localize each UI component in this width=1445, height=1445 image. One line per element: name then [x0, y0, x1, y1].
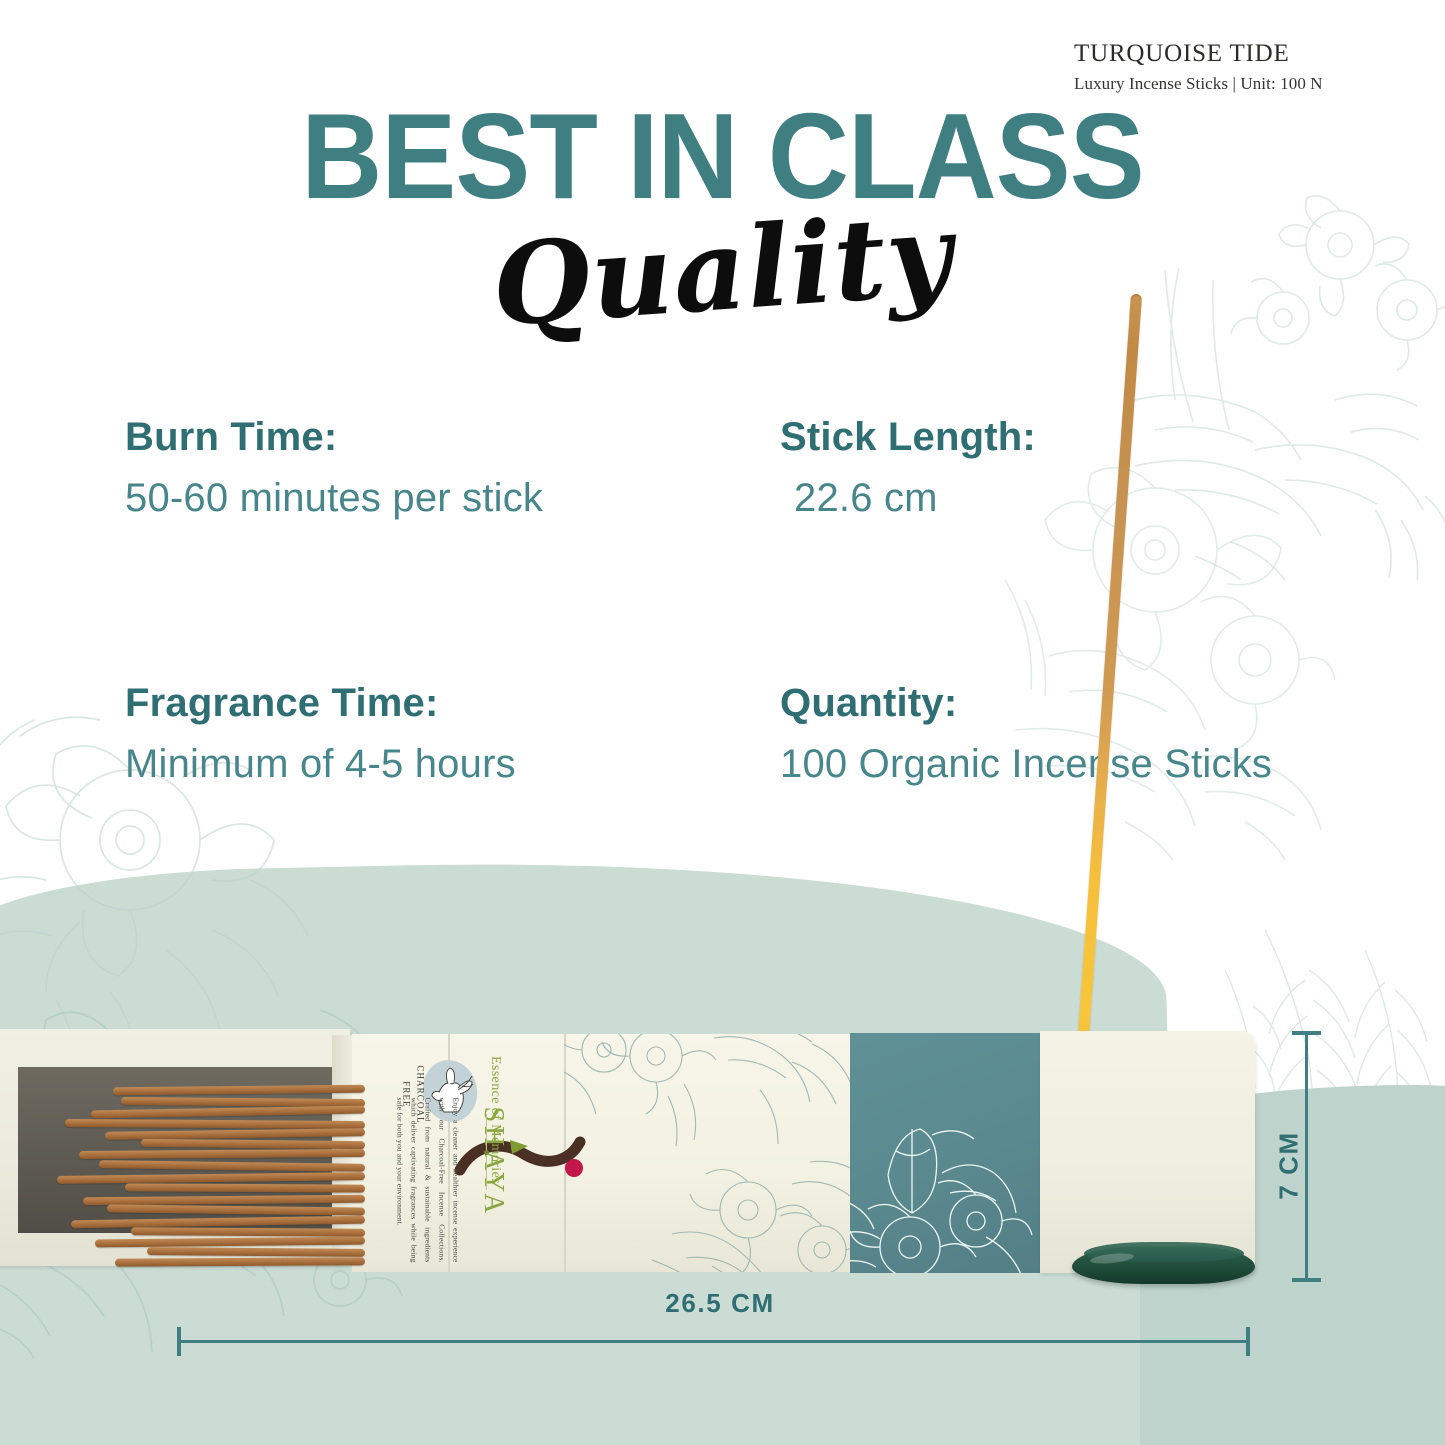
spec-stick-length: Stick Length: 22.6 cm — [780, 415, 1355, 521]
incense-holder — [1072, 1240, 1255, 1288]
spec-quantity: Quantity: 100 Organic Incense Sticks — [780, 681, 1355, 787]
spec-value-stick-length: 22.6 cm — [780, 476, 1355, 521]
specs-row-2: Fragrance Time: Minimum of 4-5 hours Qua… — [125, 681, 1355, 787]
spec-fragrance-time: Fragrance Time: Minimum of 4-5 hours — [125, 681, 780, 787]
brand-tagline: Essence of Memories — [487, 1045, 503, 1195]
spec-value-quantity: 100 Organic Incense Sticks — [780, 742, 1355, 787]
incense-sticks-bundle — [0, 1080, 365, 1280]
spec-burn-time: Burn Time: 50-60 minutes per stick — [125, 415, 780, 521]
spec-value-burn-time: 50-60 minutes per stick — [125, 476, 780, 521]
product-label-title: TURQUOISE TIDE — [1074, 40, 1290, 68]
spec-value-fragrance-time: Minimum of 4-5 hours — [125, 742, 780, 787]
dimension-cap-bottom — [1292, 1278, 1321, 1282]
specs-grid: Burn Time: 50-60 minutes per stick Stick… — [125, 415, 1355, 787]
box-teal-panel — [850, 1033, 1040, 1273]
dimension-line-width — [178, 1340, 1250, 1343]
dimension-cap-top — [1292, 1031, 1321, 1035]
product-infographic: BEST IN CLASS Quality Burn Time: 50-60 m… — [0, 0, 1445, 1445]
brand-divider-dot — [484, 1150, 489, 1155]
product-label-subtitle: Luxury Incense Sticks | Unit: 100 N — [1074, 74, 1323, 94]
spec-label-stick-length: Stick Length: — [780, 415, 1355, 460]
box-floral-art-bottom — [652, 1154, 850, 1272]
dimension-cap-right — [1246, 1327, 1250, 1356]
box-teal-floral-art — [850, 1117, 1036, 1273]
spec-label-fragrance-time: Fragrance Time: — [125, 681, 780, 726]
box-end-cap — [1040, 1031, 1255, 1273]
dimension-line-height — [1305, 1032, 1308, 1282]
dimension-cap-left — [177, 1327, 181, 1356]
dimension-label-height: 7 CM — [1274, 1096, 1305, 1236]
spec-label-quantity: Quantity: — [780, 681, 1355, 726]
dimension-label-width: 26.5 CM — [560, 1288, 880, 1319]
specs-row-1: Burn Time: 50-60 minutes per stick Stick… — [125, 415, 1355, 521]
spec-label-burn-time: Burn Time: — [125, 415, 780, 460]
